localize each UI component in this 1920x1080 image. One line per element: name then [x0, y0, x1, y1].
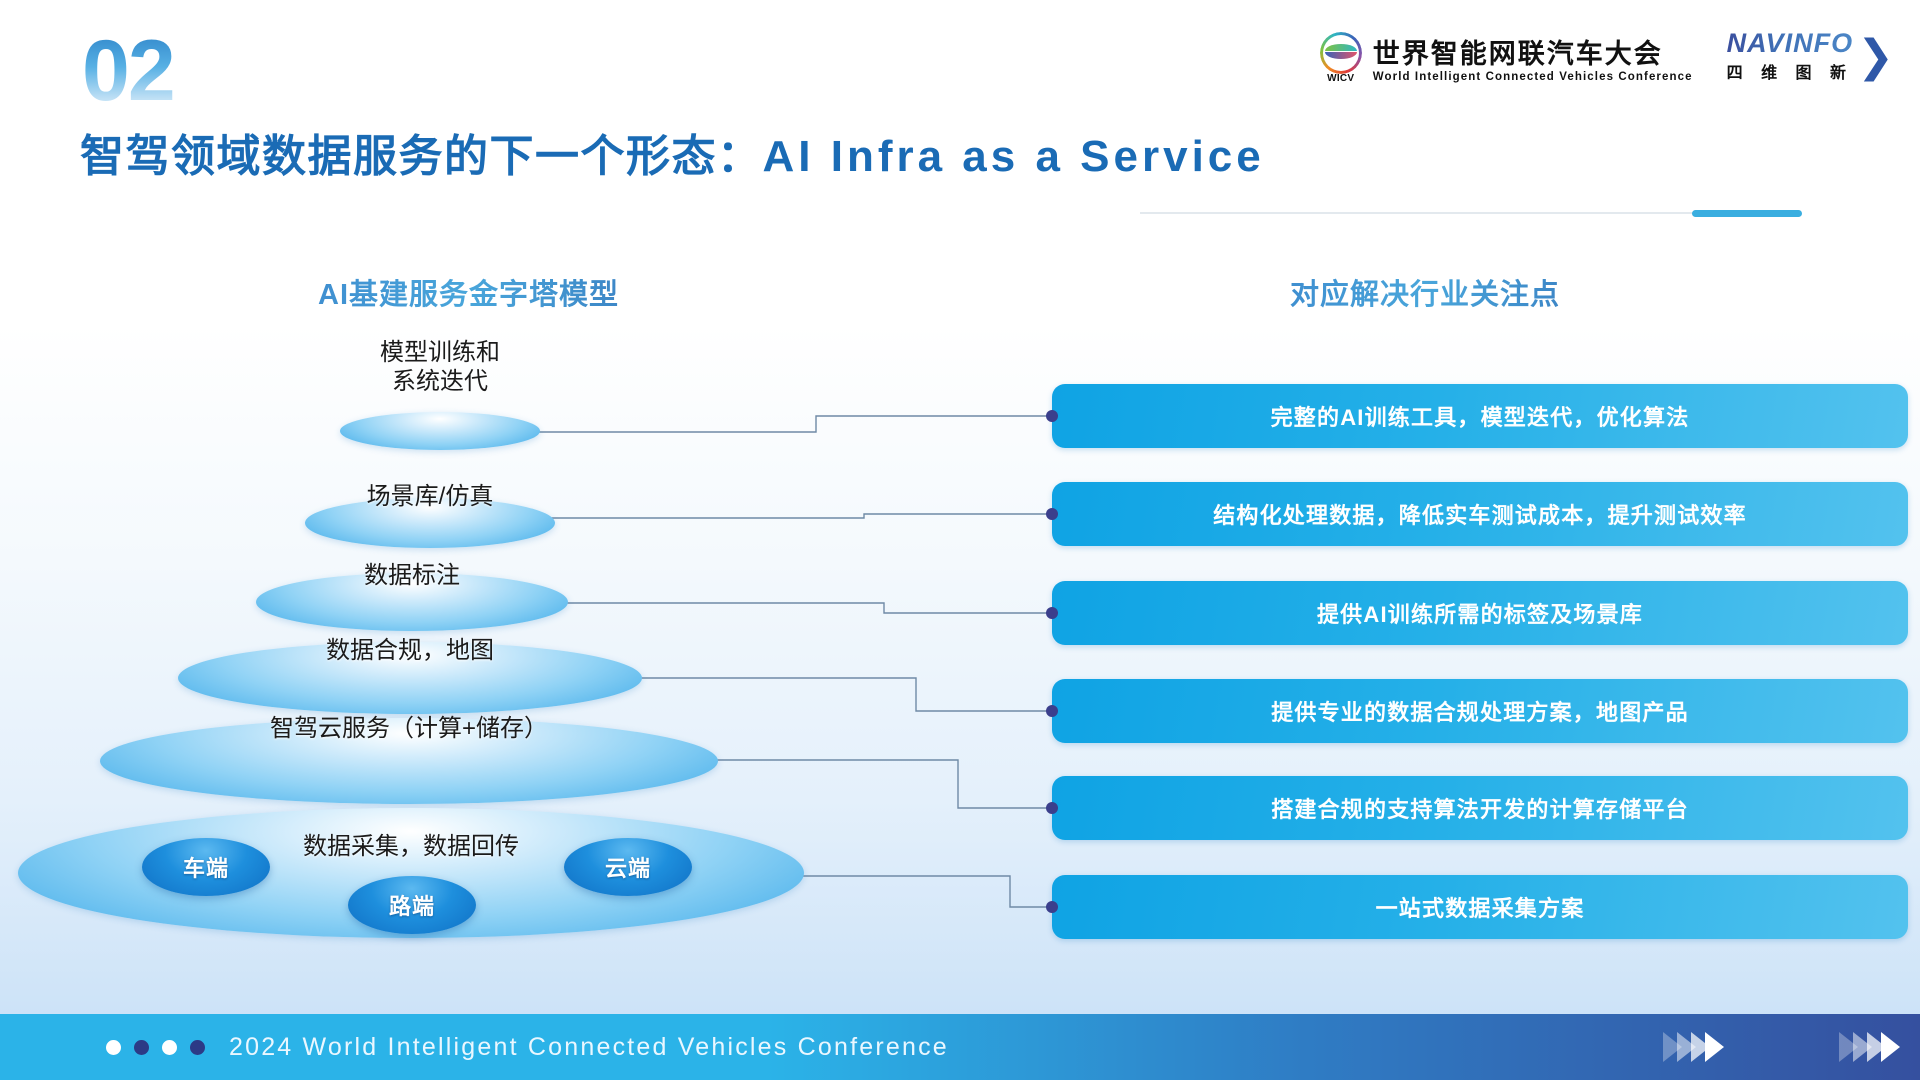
chevron-right-icon [1691, 1032, 1710, 1062]
wicv-mark-icon: WICV [1318, 31, 1364, 83]
base-pill-vehicle[interactable]: 车端 [142, 838, 270, 896]
solution-dot-3 [1046, 607, 1058, 619]
footer-dot-3 [162, 1040, 177, 1055]
footer-chevrons-group-1 [1668, 1032, 1724, 1062]
footer-dot-1 [106, 1040, 121, 1055]
solution-bar-6-label: 一站式数据采集方案 [1376, 891, 1585, 923]
pyramid-tier-2[interactable]: 场景库/仿真 [305, 498, 555, 548]
base-pill-road-label: 路端 [389, 889, 435, 921]
pyramid-tier-5-label: 智驾云服务（计算+储存） [100, 714, 718, 743]
wicv-name-cn: 世界智能网联汽车大会 [1373, 40, 1693, 68]
solution-bar-5[interactable]: 搭建合规的支持算法开发的计算存储平台 [1052, 776, 1908, 840]
footer-bar: 2024 World Intelligent Connected Vehicle… [0, 1014, 1920, 1080]
navinfo-name-en: NAVINFO [1727, 30, 1854, 57]
pyramid-tier-2-label: 场景库/仿真 [305, 482, 555, 511]
solution-bar-2[interactable]: 结构化处理数据，降低实车测试成本，提升测试效率 [1052, 482, 1908, 546]
footer-dots [106, 1040, 205, 1055]
base-pill-cloud-label: 云端 [605, 851, 651, 883]
solution-bar-1[interactable]: 完整的AI训练工具，模型迭代，优化算法 [1052, 384, 1908, 448]
pyramid-tier-1-disc [340, 412, 540, 450]
wicv-mark-label: WICV [1318, 73, 1364, 84]
solution-bar-3[interactable]: 提供AI训练所需的标签及场景库 [1052, 581, 1908, 645]
solution-bar-1-label: 完整的AI训练工具，模型迭代，优化算法 [1271, 400, 1690, 432]
wicv-logo: WICV 世界智能网联汽车大会 World Intelligent Connec… [1318, 31, 1693, 83]
footer-text: 2024 World Intelligent Connected Vehicle… [229, 1033, 949, 1062]
solution-bar-4-label: 提供专业的数据合规处理方案，地图产品 [1271, 695, 1689, 727]
page-title-cn: 智驾领域数据服务的下一个形态： [80, 132, 763, 181]
solution-bar-4[interactable]: 提供专业的数据合规处理方案，地图产品 [1052, 679, 1908, 743]
base-pill-vehicle-label: 车端 [183, 851, 229, 883]
pyramid-tier-4-label: 数据合规，地图 [178, 636, 642, 665]
solution-bar-2-label: 结构化处理数据，降低实车测试成本，提升测试效率 [1213, 498, 1747, 530]
base-pill-cloud[interactable]: 云端 [564, 838, 692, 896]
title-accent-line [1140, 212, 1800, 214]
navinfo-logo-text: NAVINFO 四 维 图 新 [1727, 30, 1854, 83]
pyramid-tier-5[interactable]: 智驾云服务（计算+储存） [100, 718, 718, 804]
solution-bar-6[interactable]: 一站式数据采集方案 [1052, 875, 1908, 939]
solution-dot-6 [1046, 901, 1058, 913]
pyramid-tier-4[interactable]: 数据合规，地图 [178, 642, 642, 714]
base-pill-road[interactable]: 路端 [348, 876, 476, 934]
wicv-logo-text: 世界智能网联汽车大会 World Intelligent Connected V… [1373, 40, 1693, 82]
chevron-right-icon [1867, 1032, 1886, 1062]
pyramid-tier-1-label: 模型训练和 系统迭代 [340, 338, 540, 397]
navinfo-name-cn: 四 维 图 新 [1727, 59, 1854, 83]
solution-dot-5 [1046, 802, 1058, 814]
footer-chevrons-group-2 [1844, 1032, 1900, 1062]
solution-dot-4 [1046, 705, 1058, 717]
wicv-name-en: World Intelligent Connected Vehicles Con… [1373, 71, 1693, 83]
solution-bar-3-label: 提供AI训练所需的标签及场景库 [1317, 597, 1643, 629]
page-title: 智驾领域数据服务的下一个形态：AI Infra as a Service [80, 120, 1265, 184]
navinfo-chevron-icon: ❯ [1857, 39, 1894, 74]
pyramid-diagram: 模型训练和 系统迭代 场景库/仿真 数据标注 数据合规，地图 智驾云服务（计算+… [0, 320, 1010, 980]
page-title-en: AI Infra as a Service [763, 132, 1265, 181]
navinfo-logo: NAVINFO 四 维 图 新 ❯ [1727, 30, 1894, 83]
footer-dot-2 [134, 1040, 149, 1055]
footer-dot-4 [190, 1040, 205, 1055]
header-logos: WICV 世界智能网联汽车大会 World Intelligent Connec… [1318, 30, 1894, 83]
pyramid-tier-3-label: 数据标注 [256, 561, 568, 590]
solution-bar-5-label: 搭建合规的支持算法开发的计算存储平台 [1271, 792, 1689, 824]
solutions-heading: 对应解决行业关注点 [1290, 271, 1560, 313]
pyramid-tier-1[interactable]: 模型训练和 系统迭代 [340, 412, 540, 450]
section-number: 02 [82, 28, 174, 114]
solution-dot-2 [1046, 508, 1058, 520]
solution-dot-1 [1046, 410, 1058, 422]
pyramid-tier-3[interactable]: 数据标注 [256, 573, 568, 631]
pyramid-heading: AI基建服务金字塔模型 [318, 271, 619, 313]
slide-root: 02 智驾领域数据服务的下一个形态：AI Infra as a Service … [0, 0, 1920, 1080]
